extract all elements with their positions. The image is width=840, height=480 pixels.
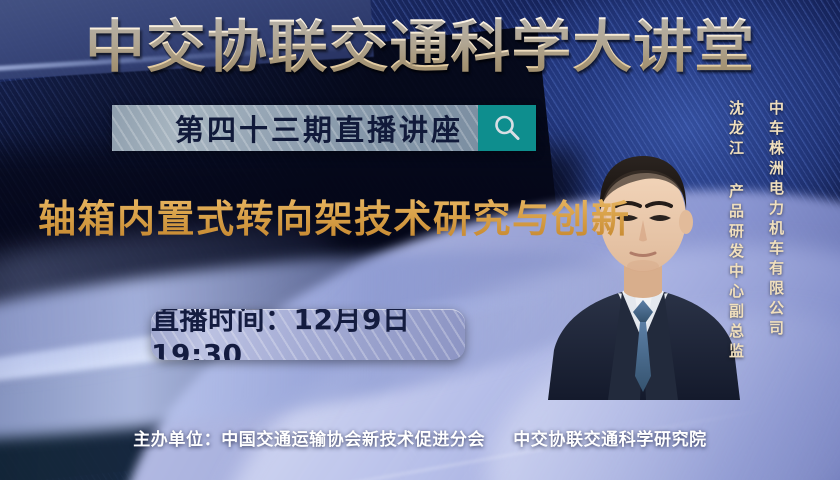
speaker-portrait — [536, 100, 751, 400]
episode-bar: 第四十三期直播讲座 — [112, 105, 536, 151]
lecture-topic: 轴箱内置式转向架技术研究与创新 — [38, 196, 631, 242]
speaker-organization: 中车株洲电力机车有限公司 — [766, 100, 787, 340]
search-icon-glyph — [492, 113, 522, 143]
live-broadcast-poster: 中交协联交通科学大讲堂 中交协联交通科学大讲堂 第四十三期直播讲座 轴箱内置式转… — [0, 0, 840, 480]
speaker-portrait-illustration — [536, 100, 751, 400]
organizer-org-1: 中国交通运输协会新技术促进分会 — [221, 430, 485, 450]
organizer-prefix: 主办单位： — [133, 430, 221, 450]
organizer-footer: 主办单位：中国交通运输协会新技术促进分会中交协联交通科学研究院 — [0, 425, 840, 450]
organizer-org-2: 中交协联交通科学研究院 — [513, 430, 707, 450]
search-icon[interactable] — [478, 105, 536, 151]
broadcast-time-badge: 直播时间：12月9日19:30 — [151, 309, 465, 360]
episode-bar-body: 第四十三期直播讲座 — [112, 105, 478, 151]
poster-title: 中交协联交通科学大讲堂 — [0, 16, 840, 78]
speaker-name-and-role: 沈龙江 产品研发中心副总监 — [726, 100, 747, 363]
episode-label: 第四十三期直播讲座 — [127, 107, 463, 149]
broadcast-time-text: 直播时间：12月9日19:30 — [151, 309, 465, 360]
